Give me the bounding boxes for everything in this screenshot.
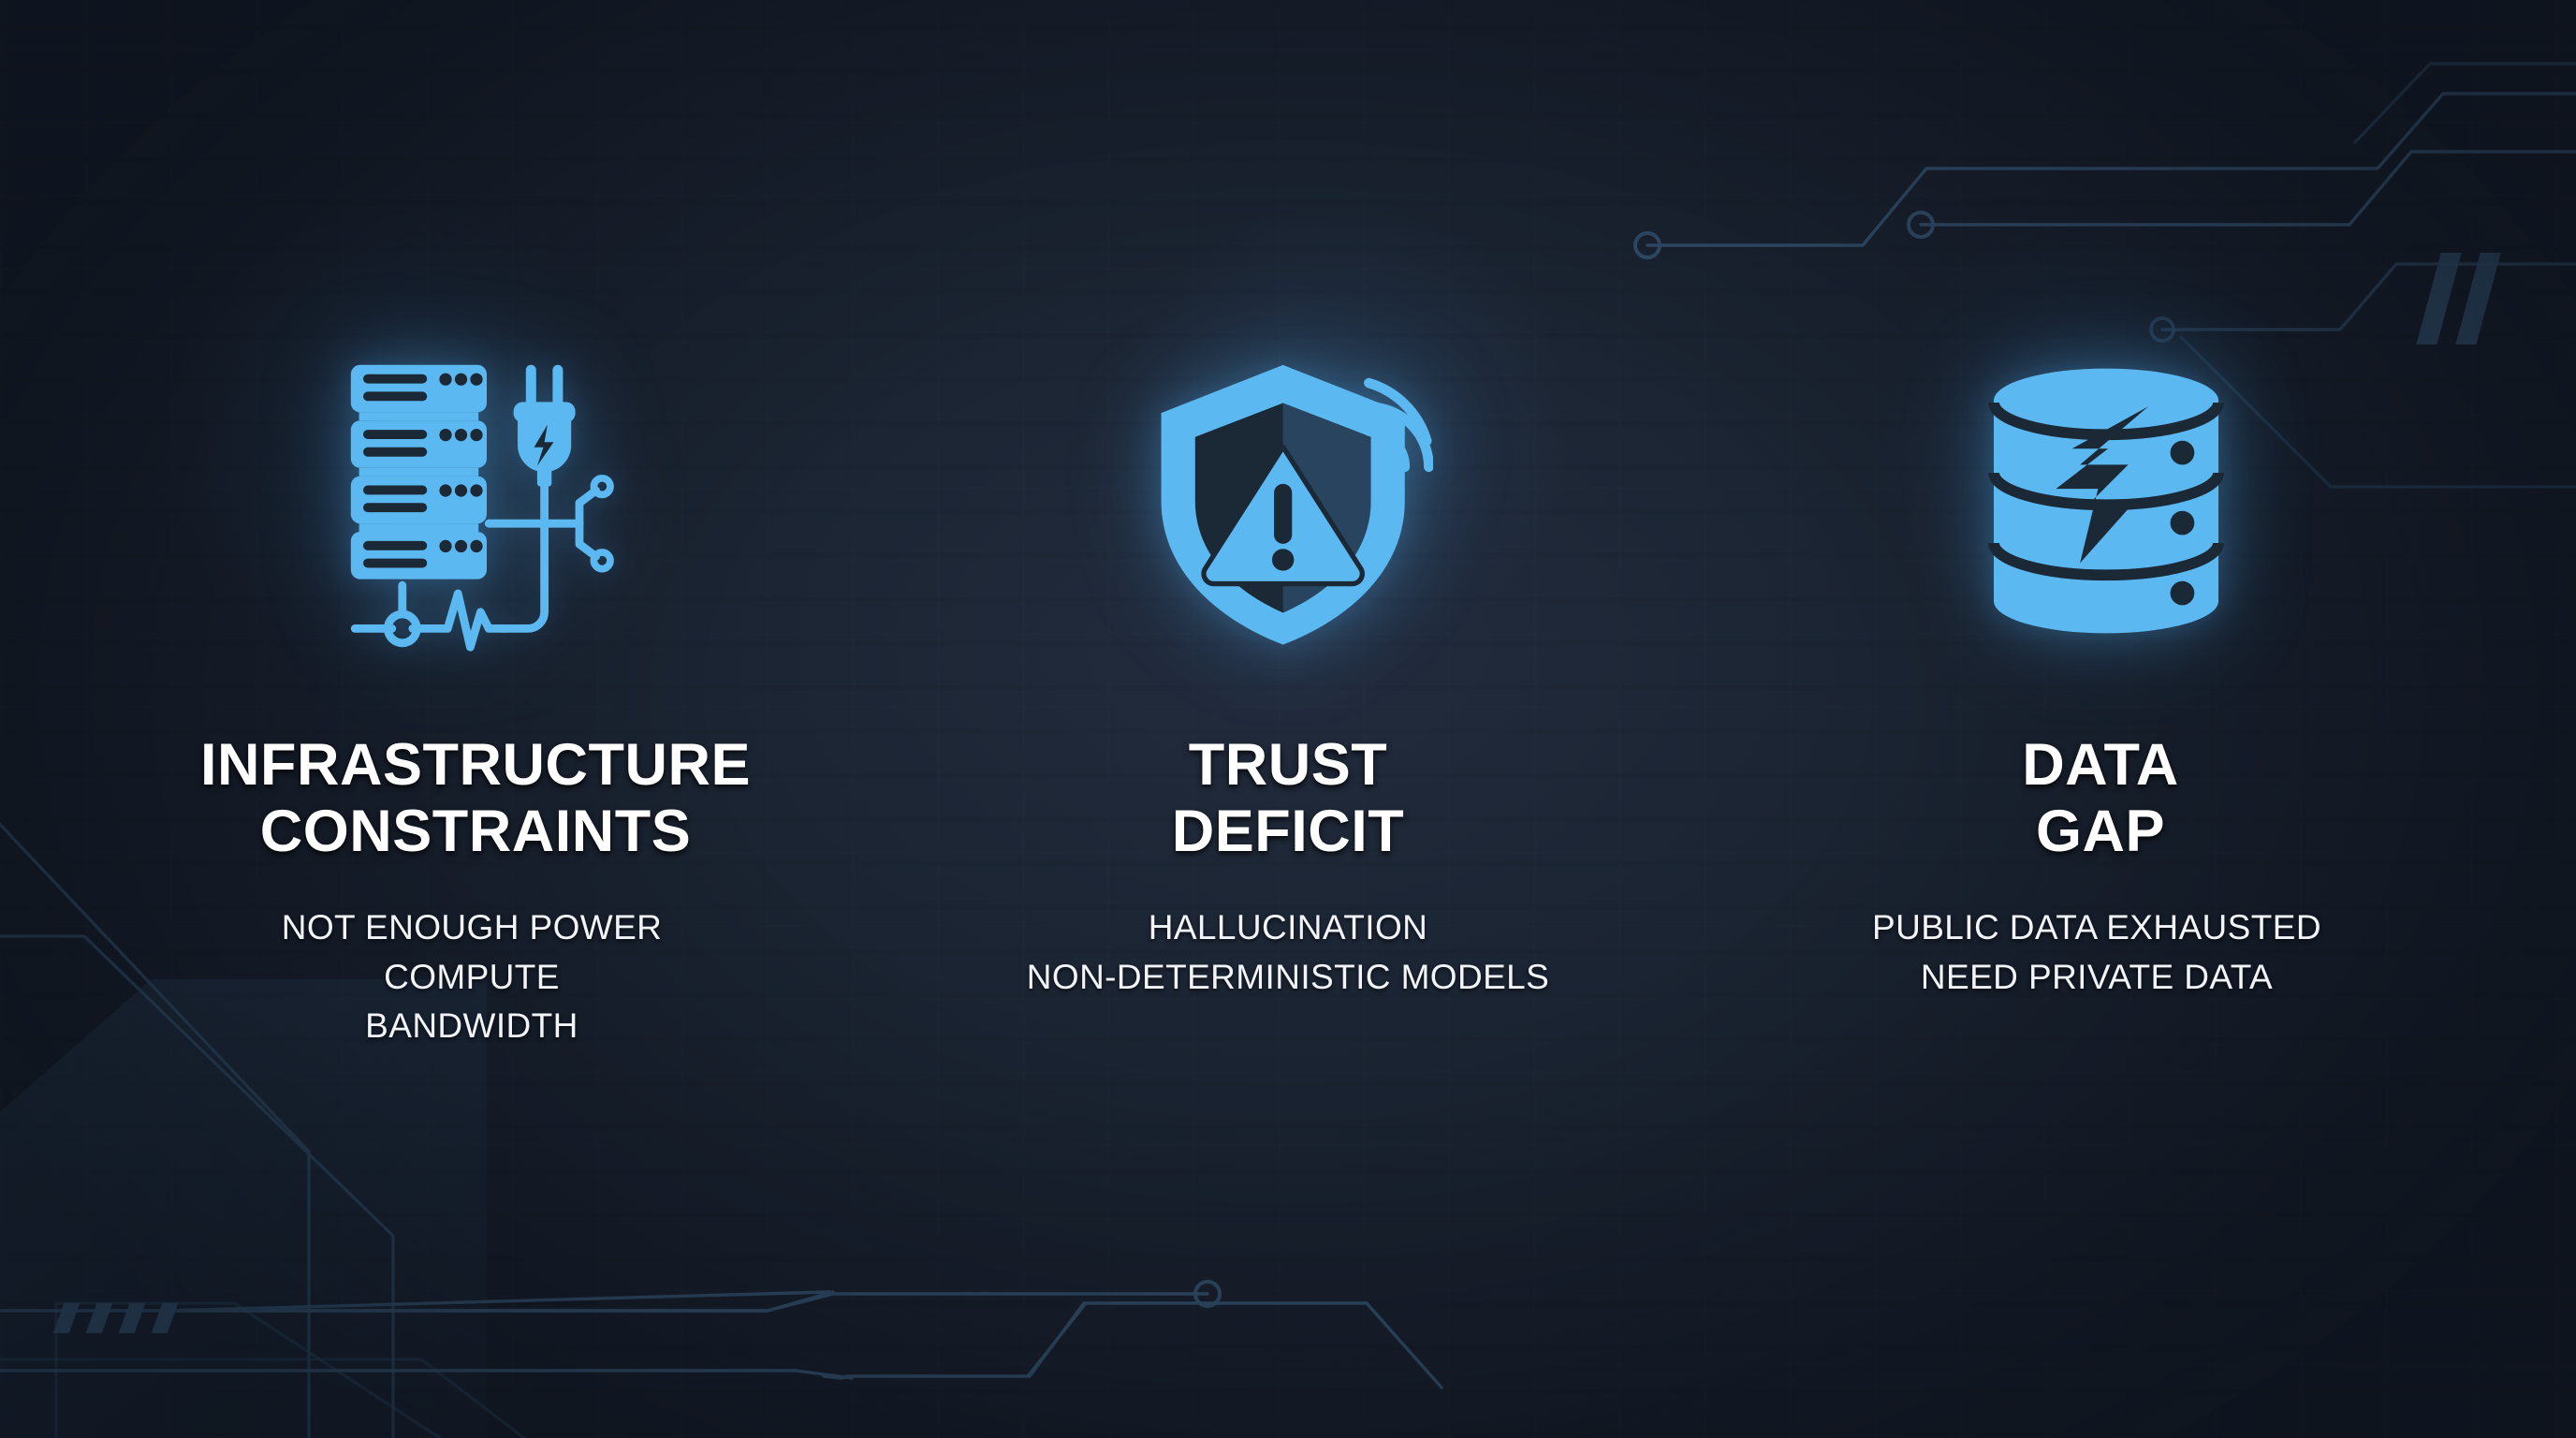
card-subtitle-line: NOT ENOUGH POWER [282, 903, 663, 953]
card-subtitle-line: BANDWIDTH [282, 1002, 663, 1051]
card-data-gap: DATA GAP PUBLIC DATA EXHAUSTED NEED PRIV… [1720, 281, 2473, 1002]
card-title-line-2: CONSTRAINTS [200, 799, 751, 865]
database-lightning-crack-icon [1970, 281, 2242, 721]
slide-canvas: INFRASTRUCTURE CONSTRAINTS NOT ENOUGH PO… [0, 0, 2576, 1438]
card-subtitle-line: NON-DETERMINISTIC MODELS [1027, 953, 1549, 1003]
card-trust-deficit: TRUST DEFICIT HALLUCINATION NON-DETERMIN… [912, 281, 1664, 1002]
card-subtitle: HALLUCINATION NON-DETERMINISTIC MODELS [1027, 903, 1549, 1002]
card-title: INFRASTRUCTURE CONSTRAINTS [200, 732, 751, 864]
card-infrastructure-constraints: INFRASTRUCTURE CONSTRAINTS NOT ENOUGH PO… [103, 281, 856, 1051]
cards-row: INFRASTRUCTURE CONSTRAINTS NOT ENOUGH PO… [0, 0, 2576, 1438]
card-title: TRUST DEFICIT [1172, 732, 1405, 864]
card-title-line-1: DATA [2022, 732, 2179, 799]
card-title: DATA GAP [2022, 732, 2179, 864]
card-subtitle-line: COMPUTE [282, 953, 663, 1003]
card-subtitle-line: PUBLIC DATA EXHAUSTED [1872, 903, 2321, 953]
server-rack-power-plug-icon [332, 281, 641, 721]
card-title-line-2: GAP [2022, 799, 2179, 865]
card-title-line-2: DEFICIT [1172, 799, 1405, 865]
card-subtitle: NOT ENOUGH POWER COMPUTE BANDWIDTH [282, 903, 663, 1051]
card-subtitle-line: HALLUCINATION [1027, 903, 1549, 953]
card-subtitle-line: NEED PRIVATE DATA [1872, 953, 2321, 1003]
shield-warning-signal-icon [1143, 281, 1433, 721]
card-title-line-1: INFRASTRUCTURE [200, 732, 751, 799]
card-title-line-1: TRUST [1172, 732, 1405, 799]
card-subtitle: PUBLIC DATA EXHAUSTED NEED PRIVATE DATA [1872, 903, 2321, 1002]
